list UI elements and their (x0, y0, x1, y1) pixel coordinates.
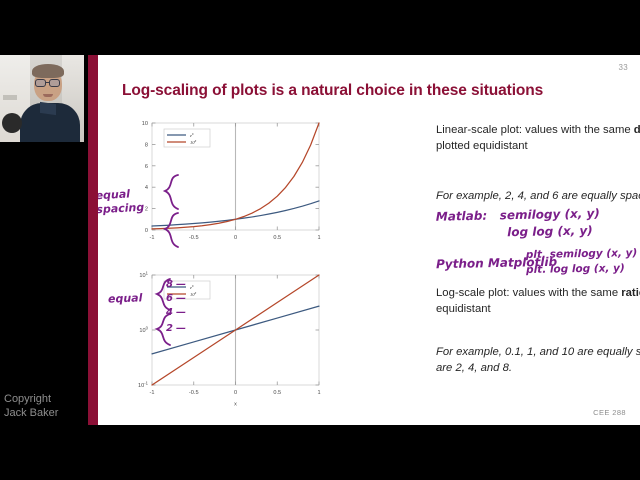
log-text-bold: ratio (621, 287, 640, 299)
microphone-icon (2, 113, 22, 133)
svg-text:101: 101 (139, 271, 148, 279)
copyright-line-1: Copyright (4, 392, 58, 406)
slide-number: 33 (619, 63, 629, 72)
linear-scale-description: Linear-scale plot: values with the same … (436, 122, 640, 154)
annotation-python-code: plt. semilogy (x, y) plt. log log (x, y) (526, 246, 638, 278)
annotation-log-tickmark-8: — (176, 279, 186, 290)
log-plot-svg: -1-0.500.5110-1100101xex10x (130, 267, 325, 407)
annotation-log-tickmark-6: — (176, 293, 186, 304)
page-title: Log-scaling of plots is a natural choice… (122, 82, 622, 100)
svg-text:-1: -1 (150, 390, 155, 396)
annotation-log-tickmark-2: — (176, 323, 186, 334)
log-scale-description: Log-scale plot: values with the same rat… (436, 285, 640, 317)
linear-scale-example: For example, 2, 4, and 6 are equally spa… (436, 188, 640, 204)
webcam-wall-sign (3, 95, 17, 100)
svg-text:1: 1 (317, 235, 320, 241)
webcam-glasses-right-lens (49, 79, 60, 87)
log-text-part1: Log-scale plot: values with the same (436, 287, 621, 299)
svg-text:10: 10 (142, 121, 148, 127)
svg-text:100: 100 (139, 326, 148, 334)
log-scale-example: For example, 0.1, 1, and 10 are equally … (436, 344, 640, 376)
linear-text-part1: Linear-scale plot: values with the same (436, 124, 634, 136)
svg-text:1: 1 (317, 390, 320, 396)
chart-linear-scale-plot: -1-0.500.510246810ex10x (130, 117, 325, 244)
webcam-person-hair (32, 64, 64, 78)
linear-plot-svg: -1-0.500.510246810ex10x (130, 117, 325, 244)
svg-text:2: 2 (145, 207, 148, 213)
svg-text:0: 0 (234, 235, 237, 241)
svg-text:0: 0 (234, 390, 237, 396)
svg-text:8: 8 (145, 142, 148, 148)
annotation-log-tick-6: 6 (166, 293, 173, 304)
slide-accent-bar (88, 55, 98, 425)
annotation-equal-spacing: equal spacing (95, 187, 144, 217)
course-code-footer: CEE 288 (593, 408, 626, 417)
annotation-matlab-commands: Matlab: semilogy (x, y) log log (x, y) (436, 205, 601, 242)
svg-text:-0.5: -0.5 (189, 235, 199, 241)
annotation-log-tick-8: 8 (166, 279, 173, 290)
svg-text:x: x (234, 402, 237, 408)
svg-text:-0.5: -0.5 (189, 390, 199, 396)
linear-text-bold: difference (634, 124, 640, 136)
webcam-person-mouth (43, 94, 53, 97)
copyright-notice: Copyright Jack Baker (4, 392, 58, 420)
webcam-person-collar (40, 102, 56, 115)
annotation-equal: equal (108, 291, 143, 305)
svg-text:10-1: 10-1 (138, 381, 149, 389)
svg-text:6: 6 (145, 164, 148, 170)
svg-text:0.5: 0.5 (273, 390, 281, 396)
webcam-video-thumbnail[interactable] (0, 55, 84, 142)
chart-log-scale-plot: -1-0.500.5110-1100101xex10x (130, 267, 325, 407)
video-frame: 33 Log-scaling of plots is a natural cho… (0, 0, 640, 480)
svg-text:4: 4 (145, 185, 148, 191)
webcam-glasses-bridge (46, 82, 49, 83)
copyright-line-2: Jack Baker (4, 406, 58, 420)
svg-text:-1: -1 (150, 235, 155, 241)
slide-canvas: 33 Log-scaling of plots is a natural cho… (88, 55, 640, 425)
annotation-log-tick-4: 4 (166, 307, 173, 318)
svg-text:0: 0 (145, 228, 148, 234)
annotation-log-tickmark-4: — (176, 307, 186, 318)
svg-text:0.5: 0.5 (273, 235, 281, 241)
webcam-glasses-left-lens (35, 79, 46, 87)
annotation-log-tick-2: 2 (166, 323, 173, 334)
